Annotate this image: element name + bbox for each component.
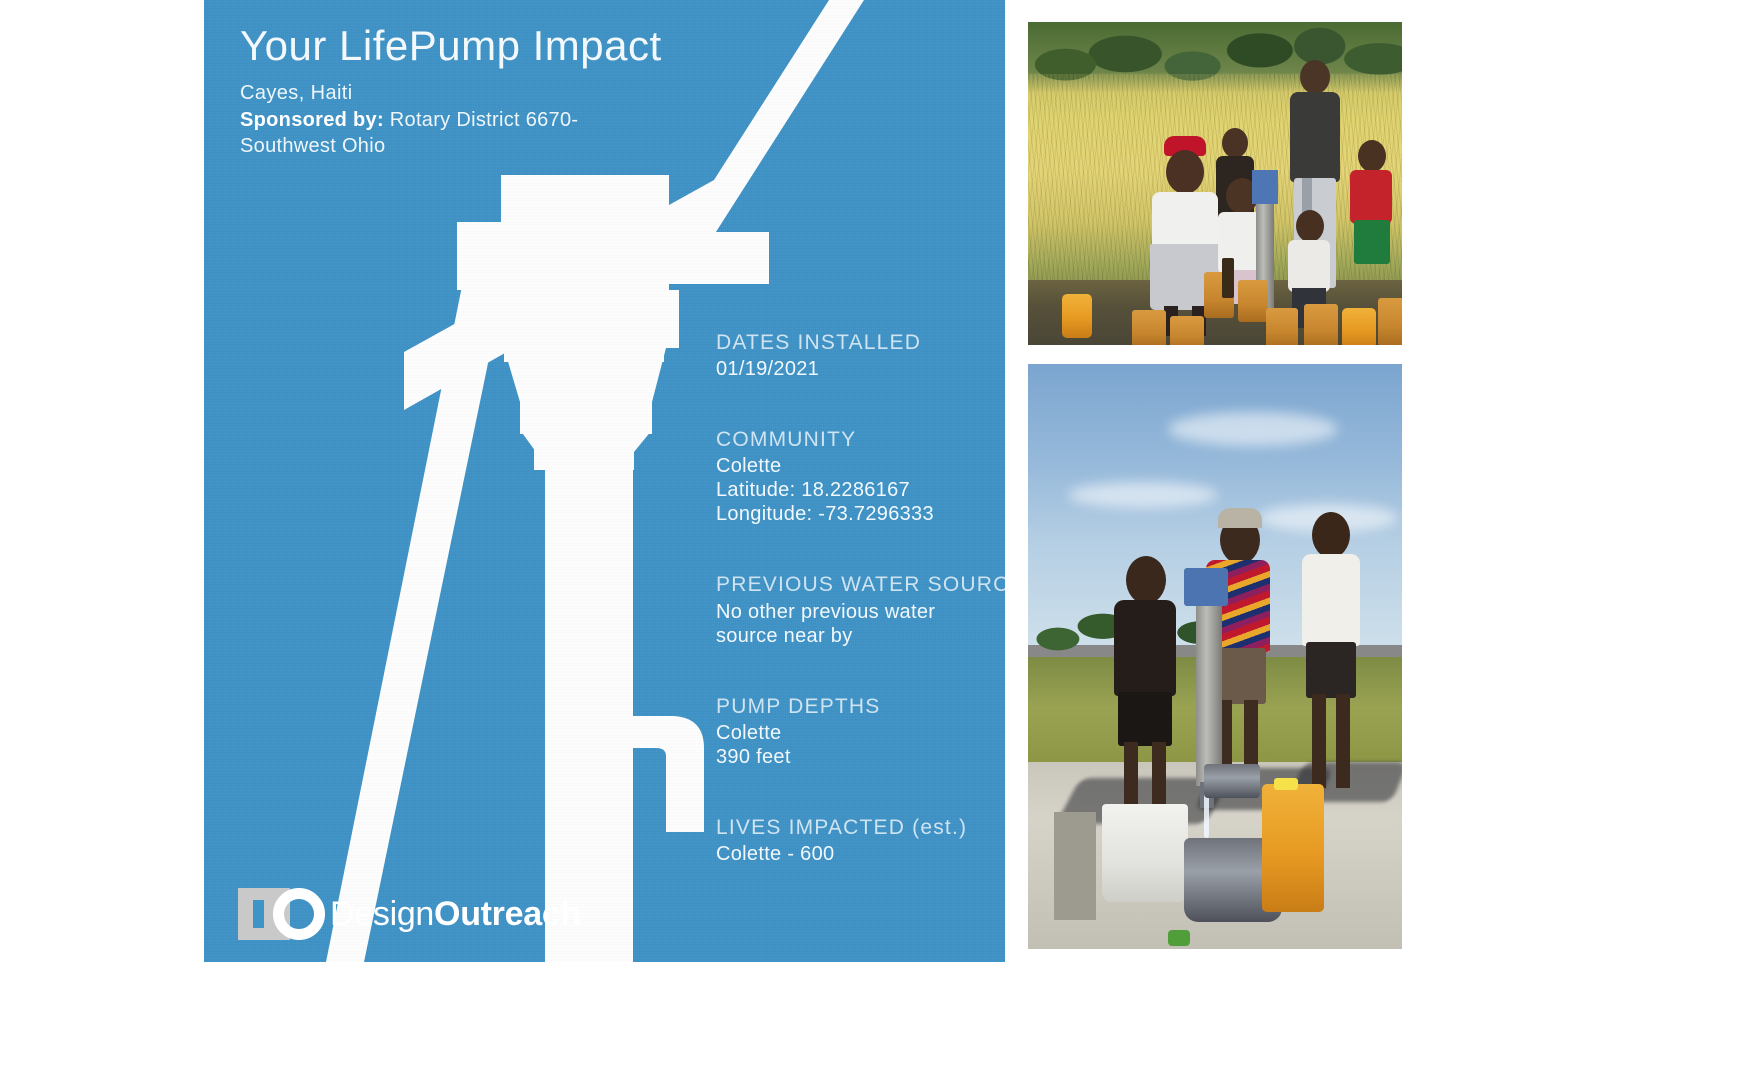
field-value: Colette - 600: [716, 843, 1005, 866]
field-dates-installed: DATES INSTALLED 01/19/2021: [716, 330, 1005, 381]
field-value: Colette 390 feet: [716, 722, 1005, 769]
field-lives-impacted: LIVES IMPACTED (est.) Colette - 600: [716, 815, 1005, 866]
field-label: DATES INSTALLED: [716, 330, 1005, 355]
photo2-pump-column: [1196, 600, 1222, 786]
field-label: PREVIOUS WATER SOURCE: [716, 572, 1005, 597]
photo-women-at-pump: [1028, 364, 1402, 949]
photo1-person-child-green: [1346, 140, 1398, 280]
photo-column: [1010, 0, 1407, 962]
photo2-person-left: [1106, 556, 1184, 816]
field-label: PUMP DEPTHS: [716, 694, 1005, 719]
photo1-jerrycan: [1266, 308, 1298, 345]
impact-fields-list: DATES INSTALLED 01/19/2021 COMMUNITY Col…: [716, 330, 1005, 867]
sponsor-label: Sponsored by:: [240, 109, 384, 131]
page-root: Your LifePump Impact Cayes, Haiti Sponso…: [0, 0, 1744, 1070]
photo2-pump-head: [1184, 568, 1228, 606]
logo-word-outreach: Outreach: [434, 895, 581, 933]
photo2-green-object: [1168, 930, 1190, 946]
do-monogram-icon: [238, 888, 324, 940]
field-value-line: Latitude: 18.2286167: [716, 479, 1005, 502]
field-value-line: Longitude: -73.7296333: [716, 503, 1005, 526]
photo1-yellow-can: [1062, 294, 1092, 338]
field-value-line: source near by: [716, 625, 1005, 648]
photo1-jerrycan: [1238, 280, 1268, 322]
logo-d-counter: [253, 900, 273, 928]
logo-letter-o: [273, 888, 325, 940]
field-value-line: 01/19/2021: [716, 358, 1005, 381]
field-value-line: No other previous water: [716, 601, 1005, 624]
photo1-pump-head: [1252, 170, 1278, 204]
field-value-line: Colette - 600: [716, 843, 1005, 866]
field-pump-depths: PUMP DEPTHS Colette 390 feet: [716, 694, 1005, 769]
field-value-line: Colette: [716, 455, 1005, 478]
logo-word-design: Design: [330, 895, 434, 933]
photo1-jerrycan: [1132, 310, 1166, 345]
photo2-cloud: [1068, 482, 1218, 508]
photo-children-at-pump: [1028, 22, 1402, 345]
field-community: COMMUNITY Colette Latitude: 18.2286167 L…: [716, 427, 1005, 526]
design-outreach-logo: DesignOutreach: [238, 888, 581, 940]
photo2-person-right: [1290, 512, 1370, 812]
photo2-jerrycan-cap: [1274, 778, 1298, 790]
field-value: No other previous water source near by: [716, 601, 1005, 648]
page-title: Your LifePump Impact: [240, 22, 710, 69]
field-previous-water-source: PREVIOUS WATER SOURCE No other previous …: [716, 572, 1005, 647]
photo1-jerrycan: [1378, 298, 1402, 345]
photo2-metal-basin: [1204, 764, 1260, 798]
location-subtitle: Cayes, Haiti: [240, 81, 710, 106]
photo2-drain-grate: [1054, 812, 1096, 920]
photo1-bottle: [1222, 258, 1234, 298]
header-block: Your LifePump Impact Cayes, Haiti Sponso…: [240, 22, 710, 159]
field-value-line: Colette: [716, 722, 1005, 745]
photo2-white-bucket: [1102, 804, 1188, 902]
field-value: Colette Latitude: 18.2286167 Longitude: …: [716, 455, 1005, 526]
photo1-yellow-can: [1342, 308, 1376, 345]
field-value: 01/19/2021: [716, 358, 1005, 381]
logo-wordmark: DesignOutreach: [330, 897, 581, 931]
blue-brochure-panel: Your LifePump Impact Cayes, Haiti Sponso…: [204, 0, 1005, 962]
field-value-line: 390 feet: [716, 746, 1005, 769]
photo1-jerrycan: [1170, 316, 1204, 345]
photo1-jerrycan: [1304, 304, 1338, 345]
scanned-sheet: Your LifePump Impact Cayes, Haiti Sponso…: [204, 0, 1407, 962]
photo2-yellow-jerrycan: [1262, 784, 1324, 912]
field-label: COMMUNITY: [716, 427, 1005, 452]
field-label: LIVES IMPACTED (est.): [716, 815, 1005, 840]
photo2-cloud: [1168, 412, 1338, 446]
sponsor-line: Sponsored by: Rotary District 6670-South…: [240, 108, 640, 159]
